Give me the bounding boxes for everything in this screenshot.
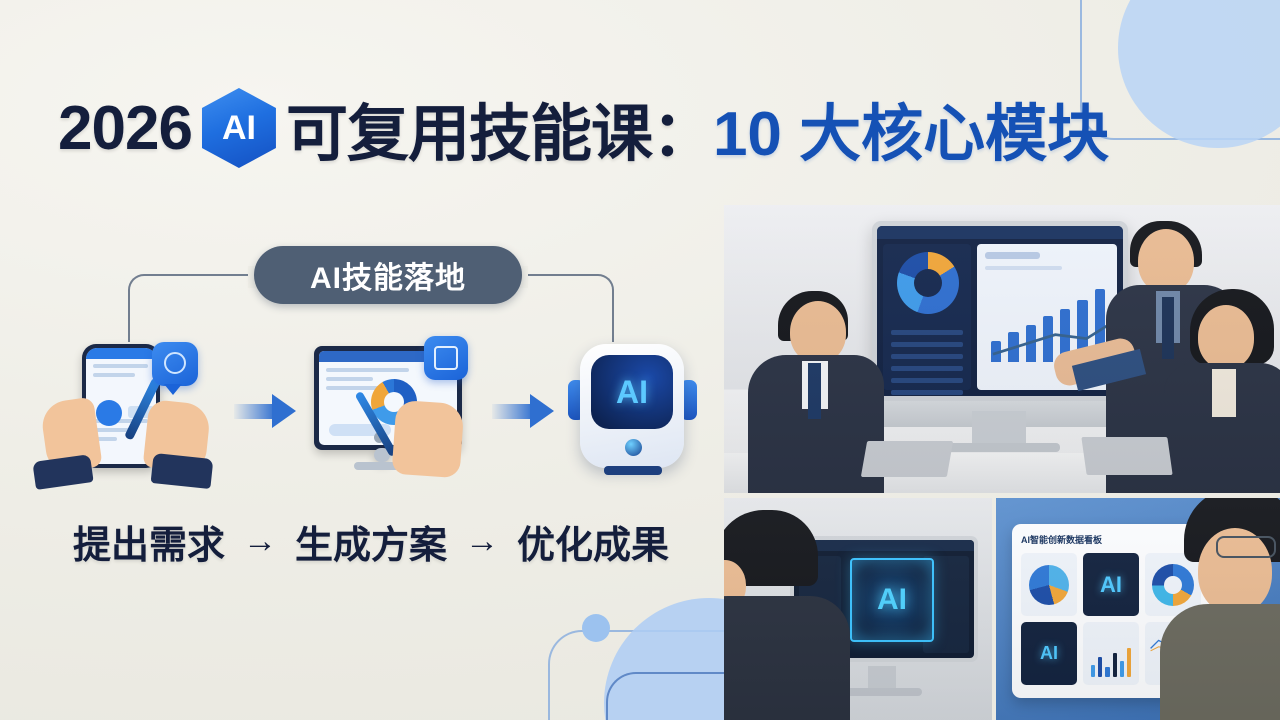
phone-stylus-icon (26, 336, 234, 486)
corner-dot-icon (582, 614, 610, 642)
board-tile-ai-large: AI (1083, 553, 1139, 616)
right-cuff-icon (151, 453, 214, 489)
business-meeting-dashboard-photo (724, 205, 1280, 493)
ai-presentation-board-photo: AI智能创新数据看板 AI AI (996, 498, 1280, 720)
board-tile-bars (1083, 622, 1139, 685)
hologram-ai-label: AI (877, 583, 907, 617)
flow-pill-label: AI技能落地 (310, 253, 466, 297)
photo-collage: AI AI智能创新数据看板 AI AI (724, 205, 1280, 720)
step-label-1: 提出需求 (73, 514, 225, 569)
step-label-3: 优化成果 (517, 514, 669, 569)
title-main-dark: 可复用技能课： (286, 83, 713, 173)
person-viewing-board (1154, 498, 1280, 720)
flow-icon-row: AI (26, 336, 716, 486)
person-back-view (724, 506, 844, 720)
board-tile-pie (1021, 553, 1077, 616)
step-separator-2: → (465, 522, 499, 561)
flow-pill-badge: AI技能落地 (254, 246, 522, 304)
ai-hexagon-badge-icon: AI (202, 88, 276, 168)
title-year: 2026 (58, 93, 192, 164)
man-viewing-ai-hologram-photo: AI (724, 498, 992, 720)
title-main-blue: 10 大核心模块 (713, 83, 1109, 173)
board-tile-ai-small: AI (1021, 622, 1077, 685)
step-separator-1: → (243, 522, 277, 561)
step-label-2: 生成方案 (295, 514, 447, 569)
flow-arrow-2-icon (492, 394, 554, 428)
chat-bubble-icon (152, 342, 198, 386)
left-cuff-icon (32, 454, 93, 490)
pointing-hand-icon (392, 400, 465, 479)
poster-canvas: 2026 AI 可复用技能课： 10 大核心模块 AI技能落地 (0, 0, 1280, 720)
ai-robot-icon: AI (554, 336, 714, 486)
monitor-chart-icon (296, 336, 492, 486)
page-title: 2026 AI 可复用技能课： 10 大核心模块 (58, 86, 1238, 170)
robot-base-icon (604, 466, 662, 475)
robot-lens-icon (625, 439, 642, 456)
ai-badge-label: AI (222, 109, 256, 148)
flow-arrow-1-icon (234, 394, 296, 428)
flow-step-labels: 提出需求 → 生成方案 → 优化成果 (26, 512, 716, 570)
robot-body-icon: AI (580, 344, 684, 468)
ai-hologram-cube-icon: AI (850, 558, 934, 642)
tablet-icon (424, 336, 468, 380)
robot-screen-label: AI (616, 374, 648, 411)
robot-screen: AI (591, 355, 673, 429)
dashboard-donut-chart (897, 252, 959, 314)
